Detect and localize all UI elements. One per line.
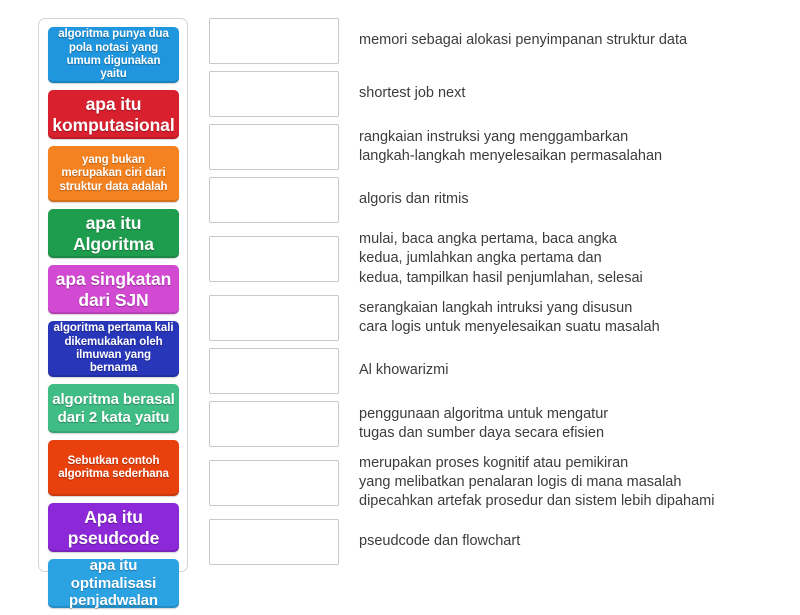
answer-mulai-baca-angka: mulai, baca angka pertama, baca angka ke…: [359, 230, 789, 288]
drop-box[interactable]: [209, 519, 339, 565]
tile-list: algoritma punya dua pola notasi yang umu…: [48, 27, 179, 615]
answer-row: penggunaan algoritma untuk mengatur tuga…: [209, 401, 789, 447]
tile-singkatan-sjn[interactable]: apa singkatan dari SJN: [48, 265, 179, 314]
answer-pseudcode-flowchart: pseudcode dan flowchart: [359, 532, 789, 551]
tile-apa-itu-komputasional[interactable]: apa itu komputasional: [48, 90, 179, 139]
answer-proses-kognitif: merupakan proses kognitif atau pemikiran…: [359, 454, 789, 512]
answer-memori-alokasi: memori sebagai alokasi penyimpanan struk…: [359, 31, 789, 50]
answer-row: rangkaian instruksi yang menggambarkan l…: [209, 124, 789, 170]
answer-row: mulai, baca angka pertama, baca angka ke…: [209, 230, 789, 288]
answer-rangkaian-instruksi: rangkaian instruksi yang menggambarkan l…: [359, 128, 789, 167]
drop-box[interactable]: [209, 177, 339, 223]
tile-penemu-algoritma[interactable]: algoritma pertama kali dikemukakan oleh …: [48, 321, 179, 377]
answer-penggunaan-algoritma: penggunaan algoritma untuk mengatur tuga…: [359, 405, 789, 444]
drop-box[interactable]: [209, 124, 339, 170]
drop-box[interactable]: [209, 18, 339, 64]
tile-asal-kata-algoritma[interactable]: algoritma berasal dari 2 kata yaitu: [48, 384, 179, 433]
tile-tray: algoritma punya dua pola notasi yang umu…: [38, 18, 188, 572]
answer-shortest-job-next: shortest job next: [359, 84, 789, 103]
answer-serangkaian-langkah: serangkaian langkah intruksi yang disusu…: [359, 299, 789, 338]
answer-row: algoris dan ritmis: [209, 177, 789, 223]
tile-optimalisasi-penjadwalan[interactable]: apa itu optimalisasi penjadwalan: [48, 559, 179, 608]
answer-rows-list: memori sebagai alokasi penyimpanan struk…: [209, 18, 789, 572]
drop-box[interactable]: [209, 236, 339, 282]
answer-algoris-ritmis: algoris dan ritmis: [359, 190, 789, 209]
tile-notasi-algoritma[interactable]: algoritma punya dua pola notasi yang umu…: [48, 27, 179, 83]
drop-box[interactable]: [209, 401, 339, 447]
tile-contoh-algoritma-sederhana[interactable]: Sebutkan contoh algoritma sederhana: [48, 440, 179, 496]
drop-box[interactable]: [209, 71, 339, 117]
answer-row: shortest job next: [209, 71, 789, 117]
drop-box[interactable]: [209, 348, 339, 394]
drop-box[interactable]: [209, 460, 339, 506]
answer-row: memori sebagai alokasi penyimpanan struk…: [209, 18, 789, 64]
match-up-board: algoritma punya dua pola notasi yang umu…: [0, 0, 800, 600]
drop-box[interactable]: [209, 295, 339, 341]
answer-row: Al khowarizmi: [209, 348, 789, 394]
tile-bukan-ciri-struktur-data[interactable]: yang bukan merupakan ciri dari struktur …: [48, 146, 179, 202]
answer-row: serangkaian langkah intruksi yang disusu…: [209, 295, 789, 341]
tile-apa-itu-pseudcode[interactable]: Apa itu pseudcode: [48, 503, 179, 552]
tile-apa-itu-algoritma[interactable]: apa itu Algoritma: [48, 209, 179, 258]
answer-row: merupakan proses kognitif atau pemikiran…: [209, 454, 789, 512]
answer-row: pseudcode dan flowchart: [209, 519, 789, 565]
answer-al-khowarizmi: Al khowarizmi: [359, 361, 789, 380]
